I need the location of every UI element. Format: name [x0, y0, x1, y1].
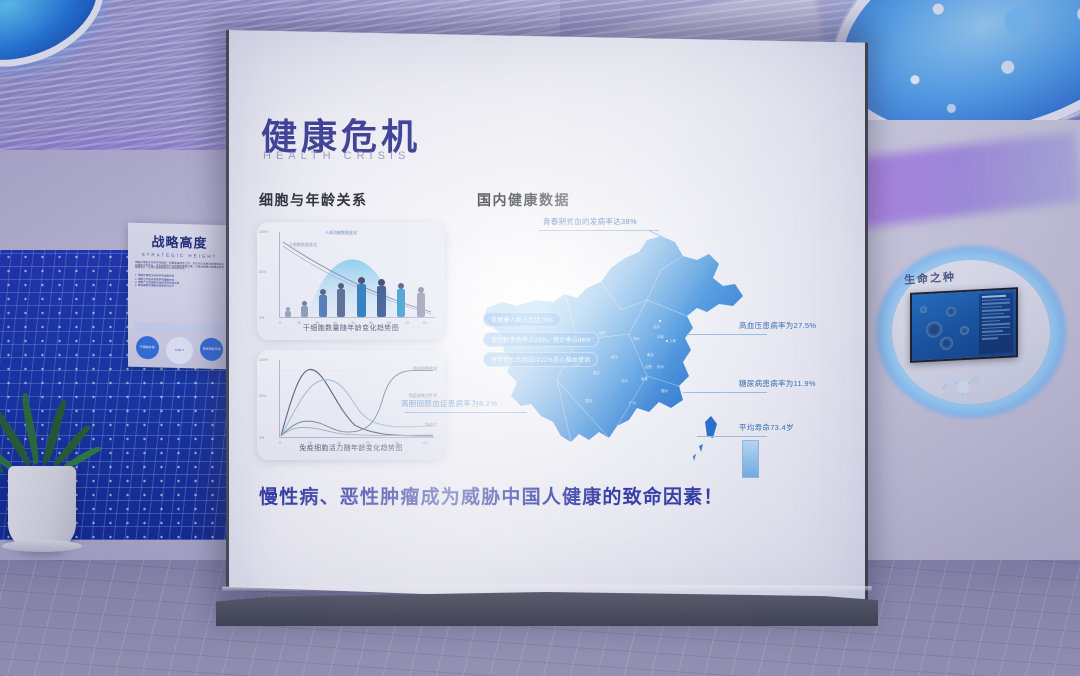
molecule-icon	[932, 370, 994, 404]
city-label: 杭州	[657, 364, 664, 369]
annotation-cholesterol: 高胆固醇血症患病率为8.2%	[401, 398, 497, 409]
exhibition-hall-photo: 战略高度 STRATEGIC HEIGHT 细胞存储是生命科学领域的一项重要基础…	[0, 0, 1080, 676]
y-tick: 50%	[259, 270, 266, 274]
cell-graphic	[920, 306, 927, 313]
chart-caption: 干细胞数量随年龄变化趋势图	[257, 323, 445, 333]
panel-chip[interactable]: CAR-T	[166, 337, 193, 365]
chart-legend: 人体功能数量变化	[325, 230, 357, 236]
y-tick: 0%	[259, 436, 264, 440]
figure-silhouette	[337, 283, 345, 317]
chart-series-label: 干细胞数量变化	[289, 242, 317, 248]
chart-card-stem-cell[interactable]: 100% 50% 0% 0 10 20 30 40 50 60 70 80	[257, 222, 445, 340]
board-content: 健康危机 HEALTH CRISIS 细胞与年龄关系 国内健康数据 100% 5…	[229, 30, 871, 610]
annotation-anemia: 青春期贫血的发病率达38%	[543, 216, 637, 227]
board-base-plinth	[216, 592, 878, 626]
y-tick: 50%	[259, 394, 266, 398]
page-subtitle: HEALTH CRISIS	[263, 150, 410, 162]
leader-line	[687, 334, 767, 335]
city-label: 郑州	[633, 336, 640, 341]
annotation-life-expectancy: 平均寿命73.4岁	[739, 422, 794, 433]
chart-legend-item: 免疫力	[425, 422, 437, 428]
city-label: 武汉	[611, 354, 618, 359]
exhibition-board[interactable]: 健康危机 HEALTH CRISIS 细胞与年龄关系 国内健康数据 100% 5…	[226, 30, 868, 610]
cell-graphic	[926, 321, 942, 338]
city-label: 昆明	[585, 398, 592, 403]
figure-silhouette	[357, 277, 366, 317]
panel-chip[interactable]: 干细胞存储	[136, 336, 159, 360]
chart-legend-item: 免疫细胞数量	[413, 366, 437, 372]
annotation-hypertension: 高血压患病率为27.5%	[739, 320, 816, 331]
leader-line	[683, 392, 767, 393]
city-label: 重庆	[593, 370, 600, 375]
cell-graphic	[940, 337, 953, 351]
city-label: 南京	[647, 352, 654, 357]
cell-graphic	[960, 326, 969, 335]
plant-pot-base	[2, 540, 82, 552]
section-heading-cell-age: 细胞与年龄关系	[259, 190, 368, 210]
strategic-height-bullets: 1. 细胞存储是生命科学的战略资源 2. 细胞治疗是未来医学的重要方向 3. 细…	[135, 274, 224, 290]
stem-cell-plot: 100% 50% 0% 0 10 20 30 40 50 60 70 80	[279, 232, 435, 318]
y-tick: 100%	[259, 230, 268, 234]
city-label: 西安	[599, 330, 606, 335]
y-tick: 100%	[259, 358, 268, 362]
city-label: 北京	[653, 324, 660, 329]
city-dot	[659, 320, 661, 322]
city-label: 广州	[629, 400, 636, 405]
city-dot	[666, 340, 668, 342]
stat-pill-subhealth: 亚健康人群占比达76%	[483, 312, 561, 327]
city-label: 合肥	[645, 364, 652, 369]
stat-pill-chronic: 慢性病患病率占23%、死亡率占86%	[483, 332, 599, 347]
plant-pot	[8, 466, 76, 550]
leader-line	[405, 412, 527, 413]
leader-line	[697, 436, 767, 437]
china-health-map[interactable]: 北京 上海 武汉 成都 广州 西安 南京 杭州 长沙 重庆 郑州 济南 福州 南…	[461, 212, 761, 482]
leader-line	[539, 230, 659, 231]
strategic-height-body: 细胞存储是生命科学领域的一项重要基础性工作，关系到人民群众的健康福祉和国家生物安…	[135, 262, 224, 272]
figure-silhouette	[417, 287, 425, 317]
stat-pill-cardio: 每年死亡的病因中22%是心脑血管病	[483, 352, 598, 367]
section-heading-health-data: 国内健康数据	[477, 190, 570, 210]
cell-graphic	[946, 306, 956, 317]
y-tick: 0%	[259, 316, 264, 320]
city-label: 济南	[657, 334, 664, 339]
screen-side-panel	[979, 292, 1013, 354]
board-headline: 慢性病、恶性肿瘤成为威胁中国人健康的致命因素！	[259, 482, 724, 509]
figure-silhouette	[285, 307, 291, 317]
panel-divider-strip	[134, 322, 225, 335]
figure-silhouette	[397, 283, 405, 317]
china-map-shape	[461, 230, 761, 470]
city-label: 南昌	[641, 376, 648, 381]
figure-silhouette	[301, 301, 308, 317]
south-sea-inset	[742, 440, 759, 478]
annotation-diabetes: 糖尿病患病率为11.9%	[739, 378, 816, 389]
city-label: 上海	[669, 338, 676, 343]
city-label: 福州	[661, 388, 668, 393]
figure-silhouette	[377, 279, 386, 317]
exhibit-display-screen[interactable]	[910, 287, 1018, 363]
city-label: 长沙	[621, 378, 628, 383]
chart-caption: 免疫细胞活力随年龄变化趋势图	[257, 443, 445, 453]
figure-silhouette	[319, 289, 327, 317]
life-seed-exhibit[interactable]: 生命之种	[876, 246, 1066, 418]
